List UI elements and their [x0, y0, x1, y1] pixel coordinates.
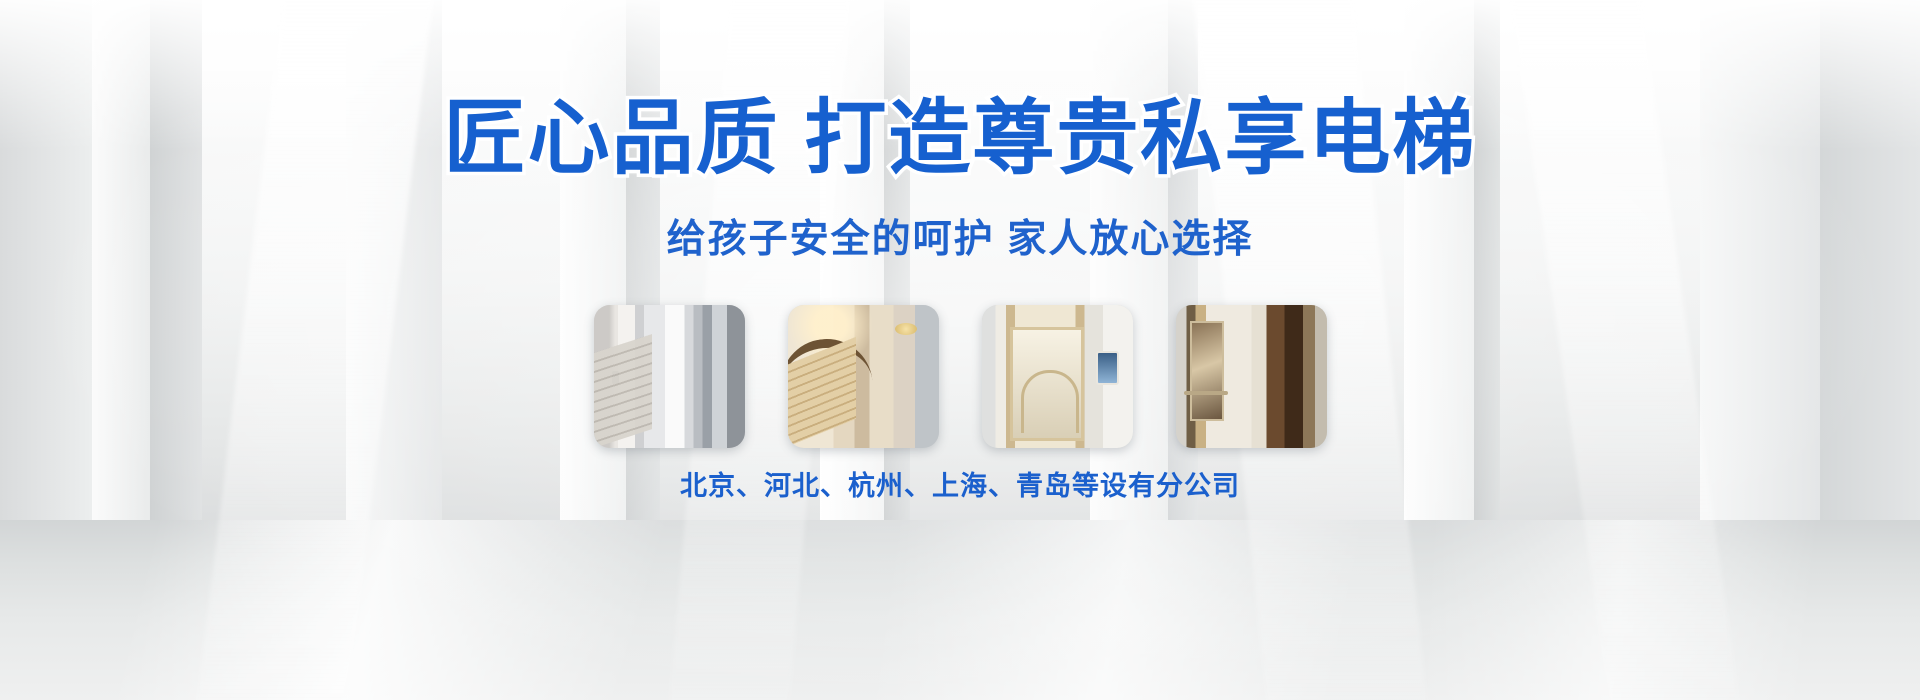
product-photo[interactable] — [594, 305, 745, 448]
chandelier-icon — [895, 323, 917, 335]
cabin-handrail — [1184, 391, 1228, 395]
cabin-mirror — [1190, 321, 1224, 421]
control-panel-icon — [1096, 351, 1119, 385]
glass-door — [1010, 327, 1084, 441]
hero-banner: 匠心品质 打造尊贵私享电梯 给孩子安全的呵护 家人放心选择 — [0, 0, 1920, 700]
product-photo[interactable] — [1176, 305, 1327, 448]
banner-content: 匠心品质 打造尊贵私享电梯 给孩子安全的呵护 家人放心选择 — [0, 0, 1920, 700]
banner-subtitle: 给孩子安全的呵护 家人放心选择 — [0, 220, 1920, 259]
product-photo[interactable] — [982, 305, 1133, 448]
product-photo[interactable] — [788, 305, 939, 448]
call-button-icon — [612, 371, 619, 384]
banner-headline: 匠心品质 打造尊贵私享电梯 — [0, 98, 1920, 180]
product-photo-strip — [0, 305, 1920, 448]
elevator-photo-1 — [594, 305, 745, 448]
branch-locations: 北京、河北、杭州、上海、青岛等设有分公司 — [0, 473, 1920, 500]
